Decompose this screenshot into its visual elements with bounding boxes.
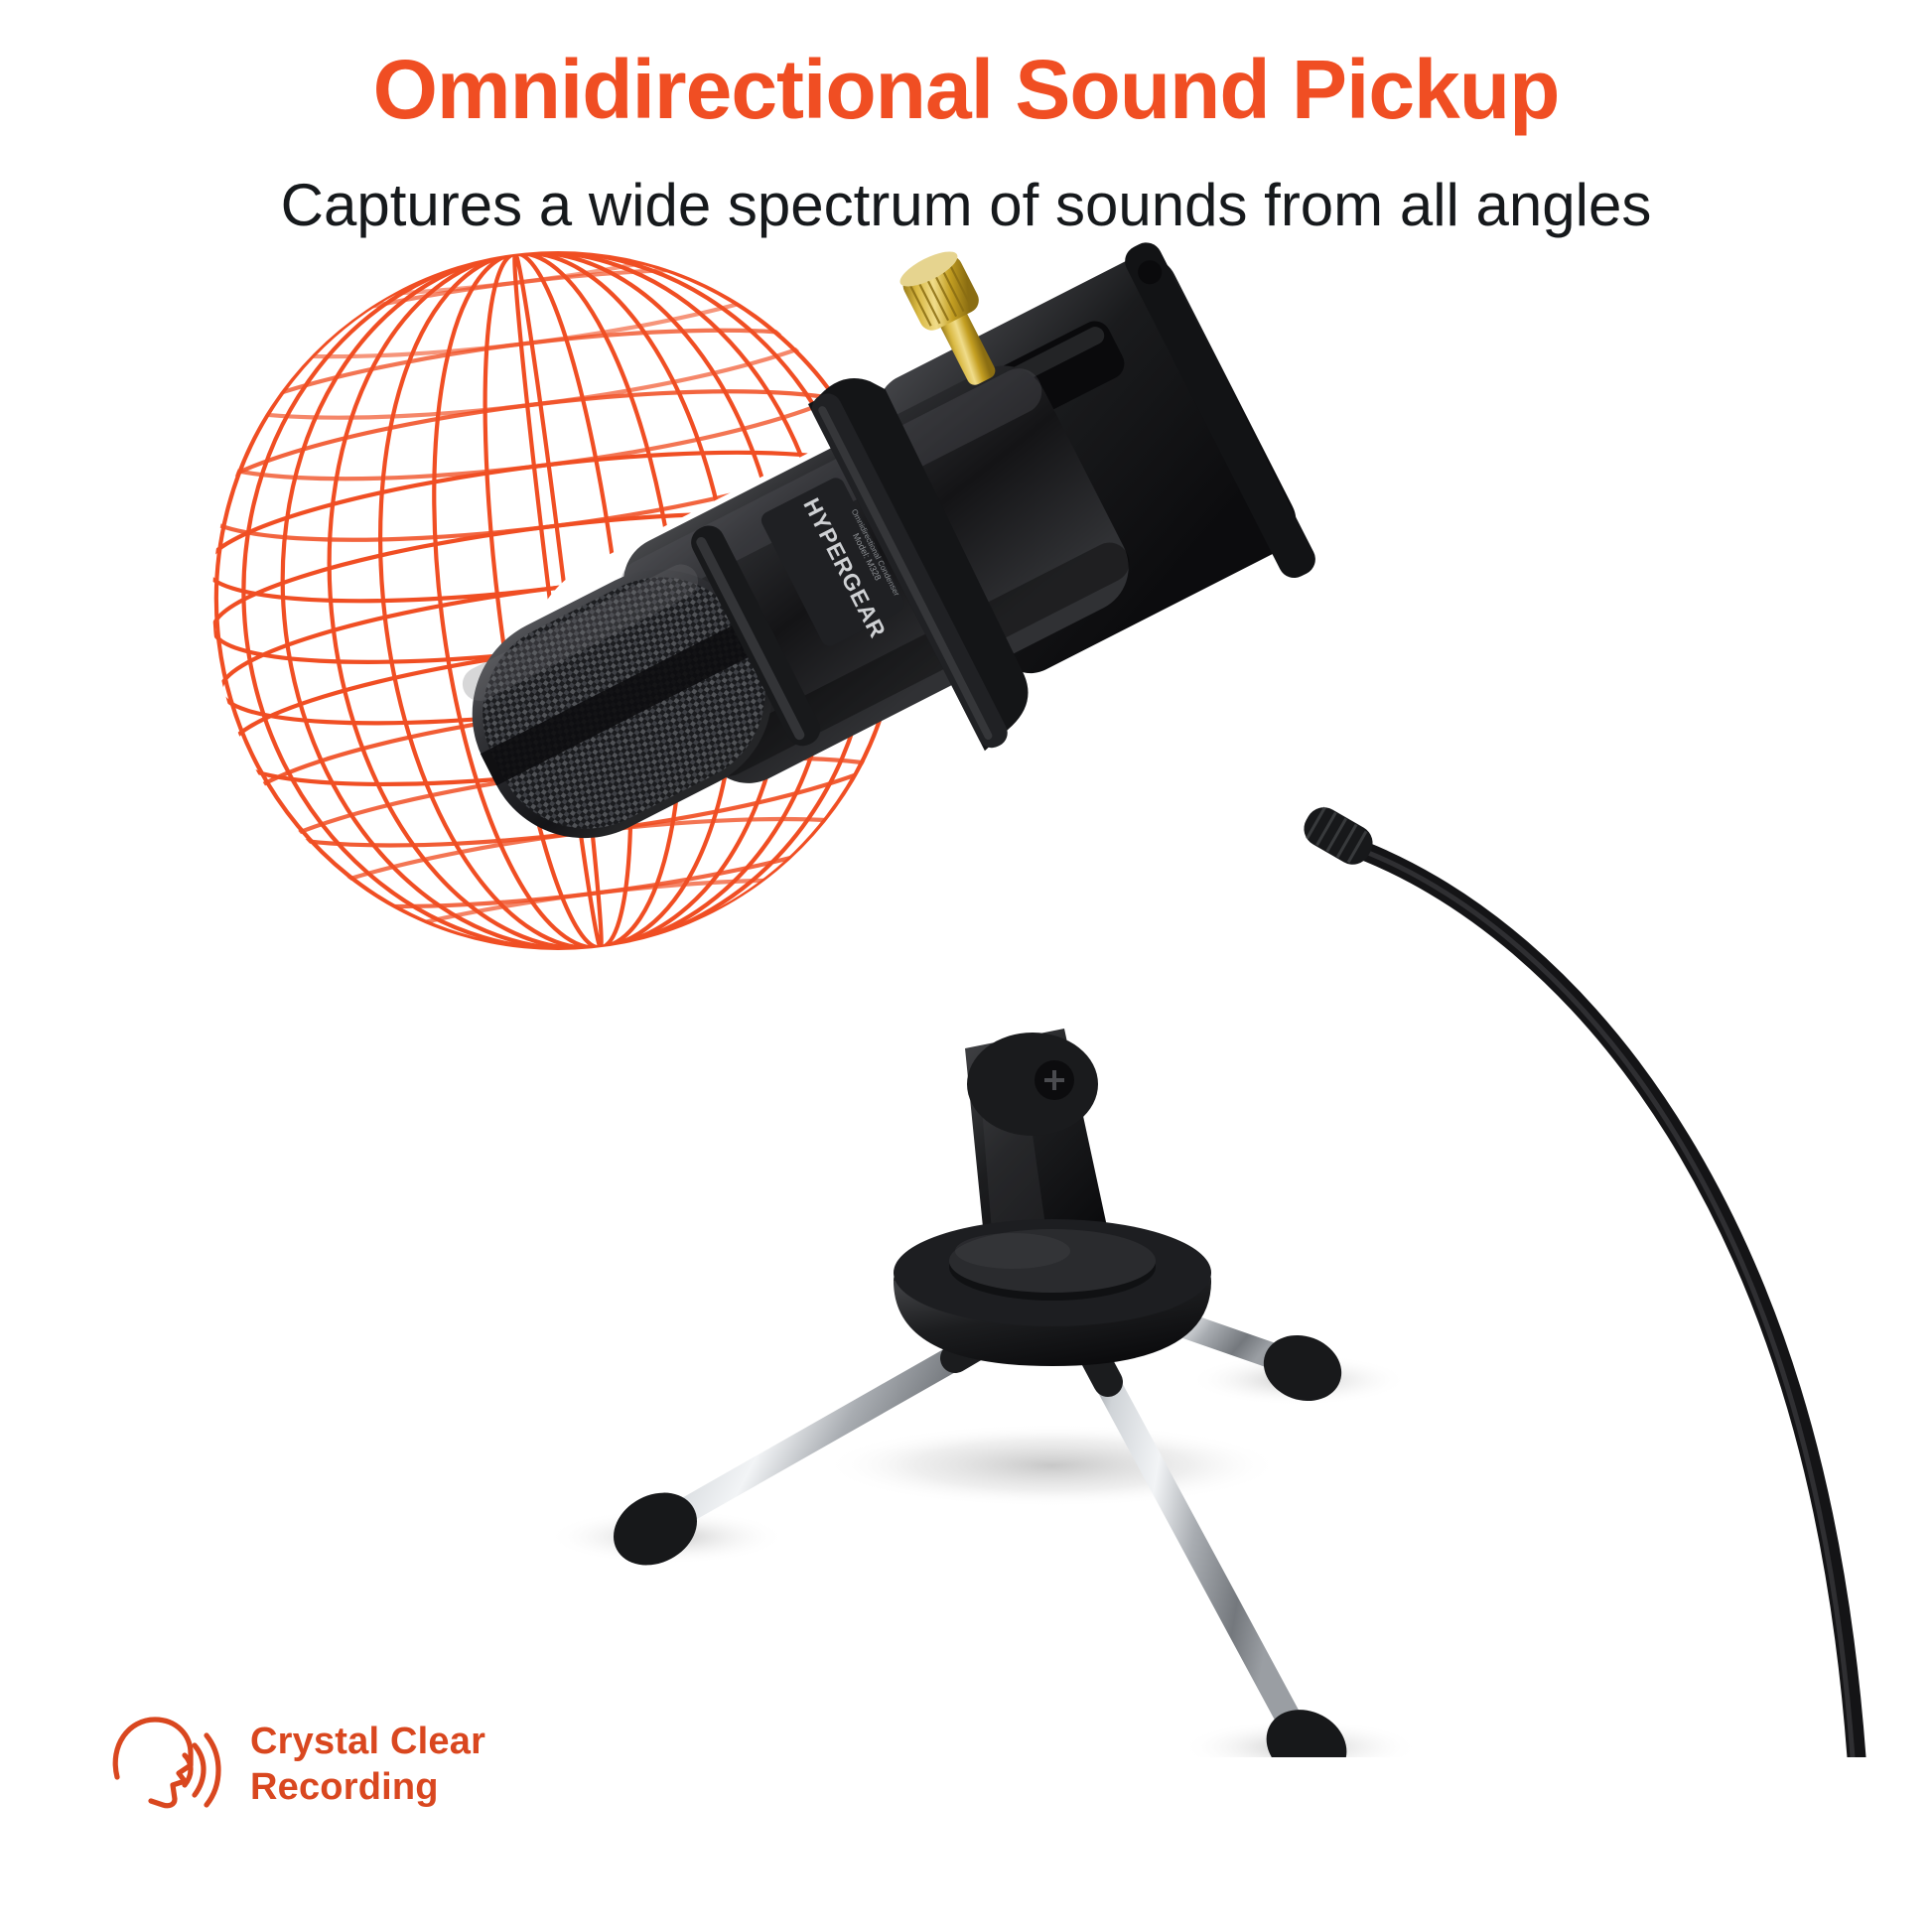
page-title: Omnidirectional Sound Pickup <box>0 46 1932 133</box>
usb-cable <box>1345 844 1857 1757</box>
pivot-joint <box>967 1033 1098 1136</box>
base-shadow <box>824 1424 1281 1507</box>
tripod-base <box>894 1219 1211 1366</box>
feature-badge: Crystal Clear Recording <box>107 1706 485 1823</box>
badge-line-2: Recording <box>250 1764 485 1810</box>
feature-badge-text: Crystal Clear Recording <box>250 1719 485 1811</box>
product-hero-image: HYPERGEAR Model: M328 Omnidirectional Co… <box>0 228 1932 1757</box>
badge-line-1: Crystal Clear <box>250 1719 485 1764</box>
speaking-head-icon <box>107 1706 224 1823</box>
product-feature-banner: Omnidirectional Sound Pickup Captures a … <box>0 0 1932 1932</box>
